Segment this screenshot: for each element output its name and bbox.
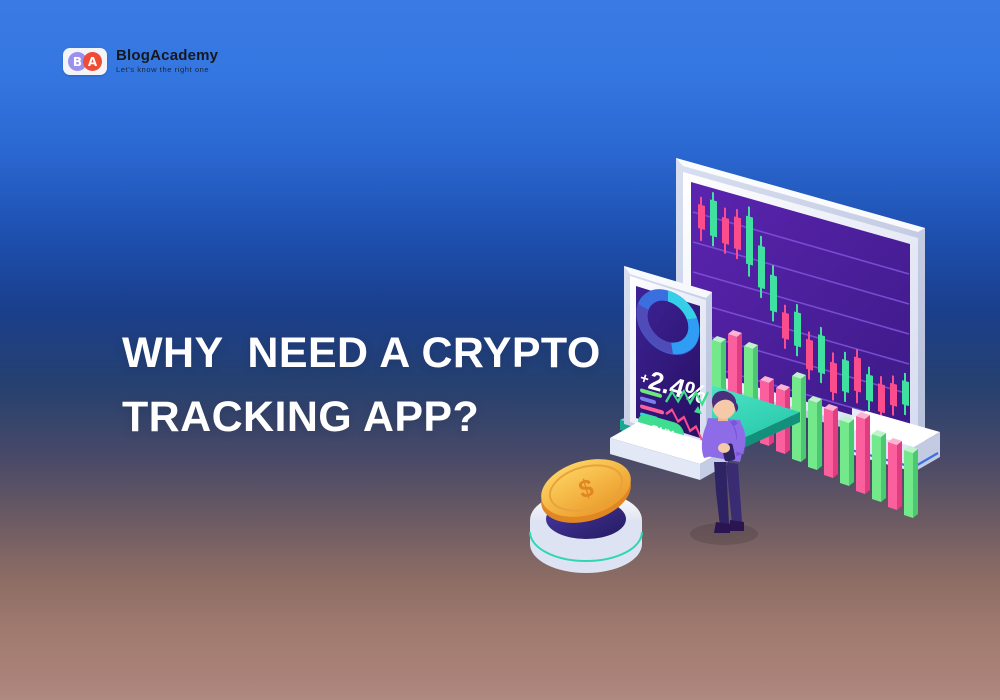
logo-letter-a: A xyxy=(83,52,102,71)
brand-text: BlogAcademy Let's know the right one xyxy=(116,48,218,75)
brand-name: BlogAcademy xyxy=(116,48,218,64)
brand-logo[interactable]: B A BlogAcademy Let's know the right one xyxy=(63,48,218,75)
crypto-illustration: + 2.4% xyxy=(500,120,970,590)
logo-mark-icon: B A xyxy=(63,48,107,75)
brand-tagline: Let's know the right one xyxy=(116,65,218,76)
hero-banner: B A BlogAcademy Let's know the right one… xyxy=(0,0,1000,700)
